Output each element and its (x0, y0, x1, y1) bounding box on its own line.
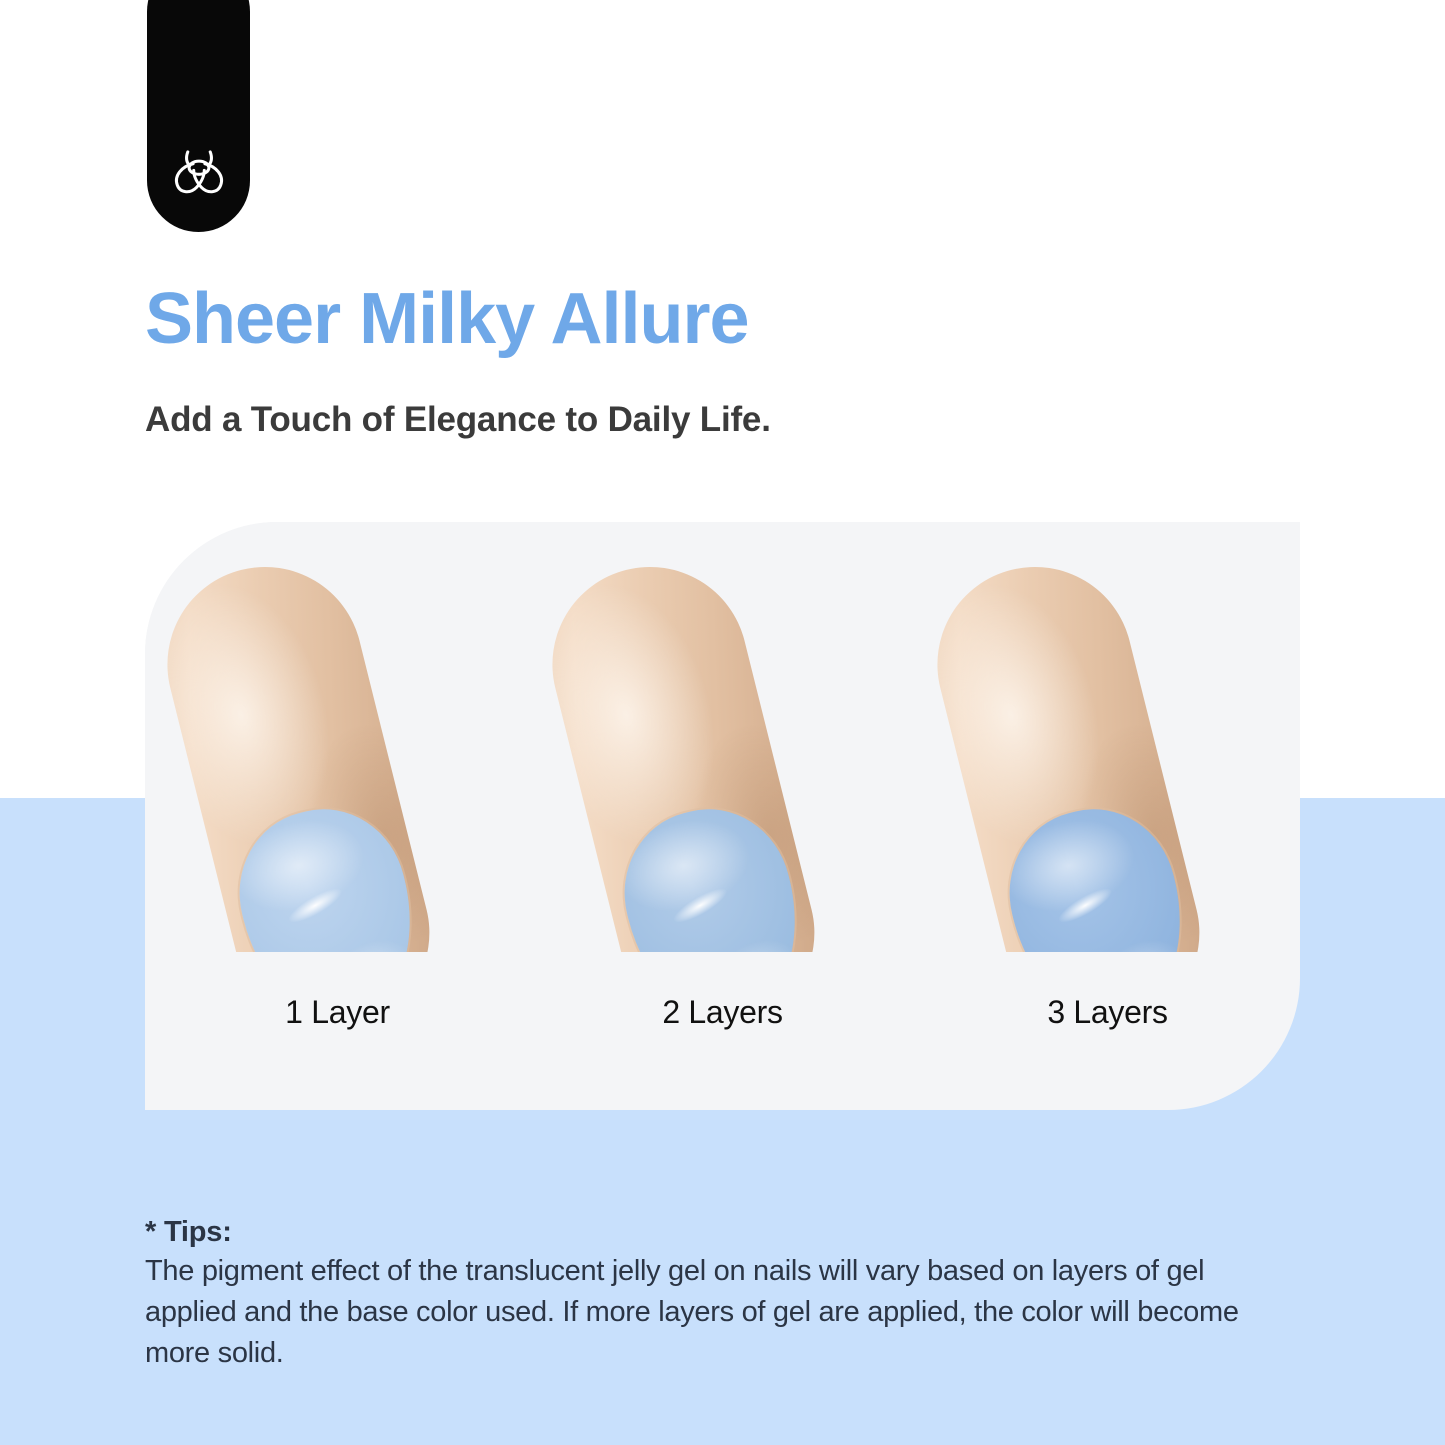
brand-logo-tab (147, 0, 250, 232)
page-subtitle: Add a Touch of Elegance to Daily Life. (145, 402, 771, 437)
bee-monogram-icon (166, 140, 232, 206)
tips-body: The pigment effect of the translucent je… (145, 1251, 1265, 1375)
swatch-label-3-layers: 3 Layers (915, 994, 1300, 1031)
page-title: Sheer Milky Allure (145, 283, 749, 355)
swatch-label-1-layer: 1 Layer (145, 994, 530, 1031)
swatch-labels: 1 Layer 2 Layers 3 Layers (145, 522, 1300, 1110)
tips-block: * Tips: The pigment effect of the transl… (145, 1214, 1265, 1375)
tips-heading: * Tips: (145, 1214, 1265, 1251)
swatch-label-2-layers: 2 Layers (530, 994, 915, 1031)
layer-comparison-card: 1 Layer 2 Layers 3 Layers (145, 522, 1300, 1110)
